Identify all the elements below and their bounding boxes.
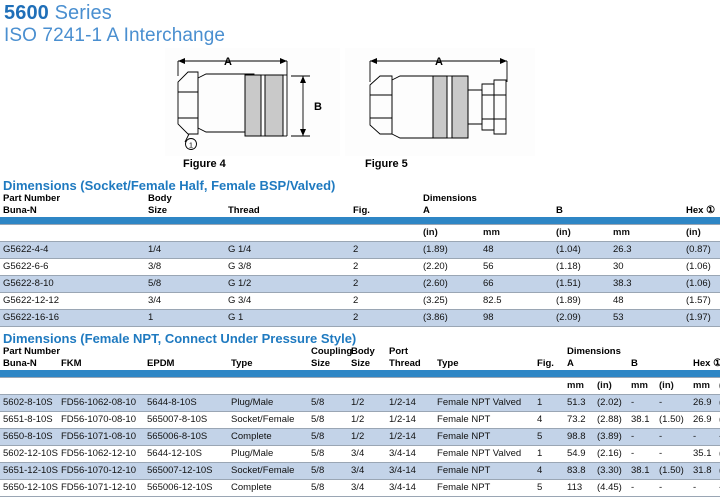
cell-a-mm: 48	[480, 242, 553, 259]
cell-body-size: 3/4	[145, 293, 225, 310]
cell2-b-mm: 38.1	[628, 463, 656, 480]
cell2-hex-mm: 26.9	[690, 412, 716, 429]
cell-fig: 2	[350, 310, 420, 327]
cell-a-mm: 98	[480, 310, 553, 327]
title-standard-line: ISO 7241-1 A Interchange	[4, 25, 720, 47]
table1: Part Number Body Dimensions Buna-N Size …	[0, 193, 720, 327]
cell2-type: Socket/Female	[228, 463, 308, 480]
cell2-port-thread: 1/2-14	[386, 395, 434, 412]
cell2-fig: 4	[534, 463, 564, 480]
table2-body: 5602-8-10S FD56-1062-08-10 5644-8-10S Pl…	[0, 395, 720, 497]
cell2-epdm: 565006-12-10S	[144, 480, 228, 497]
unit2-blank-9	[534, 378, 564, 395]
table-row[interactable]: G5622-8-10 5/8 G 1/2 2 (2.60) 66 (1.51) …	[0, 276, 720, 293]
table2-units-row: mm (in) mm (in) mm (in)	[0, 378, 720, 395]
th2-hex-label: Hex	[693, 358, 710, 369]
cell2-body-size: 1/2	[348, 412, 386, 429]
cell2-fig: 4	[534, 412, 564, 429]
cell2-a-in: (3.89)	[594, 429, 628, 446]
cell2-coupling-size: 5/8	[308, 412, 348, 429]
cell2-hex-mm: -	[690, 480, 716, 497]
cell2-buna: 5602-8-10S	[0, 395, 58, 412]
th-part-number: Part Number	[0, 193, 145, 205]
table2-header-row-1: Part Number Coupling Body Port Dimension…	[0, 346, 720, 358]
cell2-fkm: FD56-1071-08-10	[58, 429, 144, 446]
table1-section: Dimensions (Socket/Female Half, Female B…	[0, 178, 720, 327]
unit-a-mm: mm	[480, 225, 553, 242]
cell2-hex-mm: 31.8	[690, 463, 716, 480]
cell2-fkm: FD56-1062-08-10	[58, 395, 144, 412]
figure-5-drawing: A	[345, 48, 535, 156]
cell2-b-in: (1.50)	[656, 463, 690, 480]
cell2-b-mm: -	[628, 395, 656, 412]
th2-type2-spacer	[434, 346, 534, 358]
table2-heading: Dimensions (Female NPT, Connect Under Pr…	[0, 331, 720, 346]
th2-fig-spacer	[534, 346, 564, 358]
cell2-body-size: 3/4	[348, 480, 386, 497]
unit-hex-in: (in)	[683, 225, 720, 242]
cell-a-in: (2.60)	[420, 276, 480, 293]
cell-fig: 2	[350, 276, 420, 293]
table1-heading: Dimensions (Socket/Female Half, Female B…	[0, 178, 720, 193]
cell-hex-in: (0.87)	[683, 242, 720, 259]
cell2-buna: 5651-12-10S	[0, 463, 58, 480]
unit2-blank-4	[228, 378, 308, 395]
unit-blank-4	[350, 225, 420, 242]
th-thread: Thread	[225, 205, 350, 217]
unit-b-mm: mm	[610, 225, 683, 242]
cell2-hex-in: (1.25)	[716, 463, 720, 480]
cell2-type2: Female NPT	[434, 463, 534, 480]
cell2-type: Socket/Female	[228, 412, 308, 429]
note-1-icon: ①	[706, 205, 715, 216]
th-body: Body	[145, 193, 225, 205]
th2-coupling: Coupling	[308, 346, 348, 358]
cell2-port-thread: 3/4-14	[386, 480, 434, 497]
figure-5-svg: A	[345, 48, 535, 156]
th2-dim-b: B	[628, 358, 690, 370]
unit2-blank-6	[348, 378, 386, 395]
cell-b-mm: 38.3	[610, 276, 683, 293]
cell2-type2: Female NPT	[434, 480, 534, 497]
cell-a-mm: 56	[480, 259, 553, 276]
table2-header-row-2: Buna-N FKM EPDM Type Size Size Thread Ty…	[0, 358, 720, 370]
cell-b-mm: 26.3	[610, 242, 683, 259]
figure-5-caption: Figure 5	[365, 158, 408, 170]
cell-thread: G 1/4	[225, 242, 350, 259]
th2-type2: Type	[434, 358, 534, 370]
cell-hex-in: (1.97)	[683, 310, 720, 327]
cell2-b-in: -	[656, 395, 690, 412]
cell2-buna: 5651-8-10S	[0, 412, 58, 429]
title-series-line: 5600 Series	[4, 2, 720, 25]
table1-header-row-1: Part Number Body Dimensions	[0, 193, 720, 205]
cell2-fig: 5	[534, 480, 564, 497]
figure-4-svg: A B 1	[165, 48, 340, 156]
cell-fig: 2	[350, 242, 420, 259]
th-buna: Buna-N	[0, 205, 145, 217]
cell2-coupling-size: 5/8	[308, 395, 348, 412]
table1-body: G5622-4-4 1/4 G 1/4 2 (1.89) 48 (1.04) 2…	[0, 242, 720, 327]
cell2-a-in: (2.16)	[594, 446, 628, 463]
title-series-word: Series	[49, 2, 112, 24]
cell2-a-in: (2.02)	[594, 395, 628, 412]
unit2-b-mm: mm	[628, 378, 656, 395]
cell2-type2: Female NPT Valved	[434, 395, 534, 412]
title-series-number: 5600	[4, 2, 49, 24]
cell-hex-in: (1.57)	[683, 293, 720, 310]
unit-blank-3	[225, 225, 350, 242]
table-row[interactable]: 5650-8-10S FD56-1071-08-10 565006-8-10S …	[0, 429, 720, 446]
cell2-epdm: 5644-8-10S	[144, 395, 228, 412]
table-row[interactable]: G5622-16-16 1 G 1 2 (3.86) 98 (2.09) 53 …	[0, 310, 720, 327]
th2-fig: Fig.	[534, 358, 564, 370]
unit2-a-mm: mm	[564, 378, 594, 395]
th-dim-hex: Hex ①	[683, 205, 720, 217]
cell-part: G5622-8-10	[0, 276, 145, 293]
unit-blank-2	[145, 225, 225, 242]
th2-type: Type	[228, 358, 308, 370]
cell-thread: G 3/8	[225, 259, 350, 276]
cell-b-in: (1.51)	[553, 276, 610, 293]
cell2-coupling-size: 5/8	[308, 446, 348, 463]
cell-b-mm: 48	[610, 293, 683, 310]
cell-a-in: (3.25)	[420, 293, 480, 310]
th-size: Size	[145, 205, 225, 217]
cell2-b-mm: -	[628, 429, 656, 446]
cell2-hex-in: -	[716, 429, 720, 446]
cell2-type: Complete	[228, 429, 308, 446]
cell-a-mm: 82.5	[480, 293, 553, 310]
cell-body-size: 5/8	[145, 276, 225, 293]
th2-epdm-spacer	[144, 346, 228, 358]
cell2-type2: Female NPT	[434, 429, 534, 446]
cell2-a-mm: 73.2	[564, 412, 594, 429]
cell2-fig: 1	[534, 395, 564, 412]
table-row[interactable]: 5651-12-10S FD56-1070-12-10 565007-12-10…	[0, 463, 720, 480]
cell2-epdm: 565007-8-10S	[144, 412, 228, 429]
cell-part: G5622-4-4	[0, 242, 145, 259]
cell2-b-in: -	[656, 429, 690, 446]
cell2-buna: 5602-12-10S	[0, 446, 58, 463]
table1-units-row: (in) mm (in) mm (in) mm	[0, 225, 720, 242]
cell-body-size: 3/8	[145, 259, 225, 276]
th-thread-spacer	[225, 193, 350, 205]
figure-4-dim-b-label: B	[314, 101, 322, 113]
th2-dimensions: Dimensions	[564, 346, 720, 358]
unit2-hex-in: (in)	[716, 378, 720, 395]
unit2-blank-8	[434, 378, 534, 395]
cell-b-in: (1.89)	[553, 293, 610, 310]
cell2-fkm: FD56-1071-12-10	[58, 480, 144, 497]
cell2-fig: 5	[534, 429, 564, 446]
th2-port-thread: Thread	[386, 358, 434, 370]
cell2-fkm: FD56-1070-08-10	[58, 412, 144, 429]
cell2-coupling-size: 5/8	[308, 463, 348, 480]
unit2-hex-mm: mm	[690, 378, 716, 395]
th-dimensions: Dimensions	[420, 193, 720, 205]
th2-dim-hex: Hex ①	[690, 358, 720, 370]
cell2-buna: 5650-8-10S	[0, 429, 58, 446]
figure-4-note-marker: 1	[189, 141, 193, 150]
cell2-buna: 5650-12-10S	[0, 480, 58, 497]
table2-section: Dimensions (Female NPT, Connect Under Pr…	[0, 331, 720, 497]
cell-part: G5622-6-6	[0, 259, 145, 276]
cell2-fkm: FD56-1062-12-10	[58, 446, 144, 463]
unit-a-in: (in)	[420, 225, 480, 242]
table1-header-row-2: Buna-N Size Thread Fig. A B Hex ①	[0, 205, 720, 217]
cell2-type2: Female NPT Valved	[434, 446, 534, 463]
cell2-coupling-size: 5/8	[308, 480, 348, 497]
cell2-a-in: (3.30)	[594, 463, 628, 480]
cell-body-size: 1	[145, 310, 225, 327]
table2: Part Number Coupling Body Port Dimension…	[0, 346, 720, 497]
cell2-b-in: (1.50)	[656, 412, 690, 429]
cell-hex-in: (1.06)	[683, 276, 720, 293]
cell2-a-in: (4.45)	[594, 480, 628, 497]
figure-4-dim-a-label: A	[224, 56, 232, 68]
cell2-b-in: -	[656, 446, 690, 463]
cell2-body-size: 3/4	[348, 446, 386, 463]
cell2-b-mm: 38.1	[628, 412, 656, 429]
table-row[interactable]: 5602-8-10S FD56-1062-08-10 5644-8-10S Pl…	[0, 395, 720, 412]
th2-type-spacer	[228, 346, 308, 358]
cell2-a-mm: 98.8	[564, 429, 594, 446]
unit-blank-1	[0, 225, 145, 242]
cell2-epdm: 565007-12-10S	[144, 463, 228, 480]
th2-fkm: FKM	[58, 358, 144, 370]
cell2-port-thread: 1/2-14	[386, 429, 434, 446]
cell2-type: Plug/Male	[228, 446, 308, 463]
cell2-body-size: 1/2	[348, 395, 386, 412]
cell-hex-in: (1.06)	[683, 259, 720, 276]
table2-blue-rule	[0, 370, 720, 378]
cell-part: G5622-16-16	[0, 310, 145, 327]
table-row[interactable]: 5602-12-10S FD56-1062-12-10 5644-12-10S …	[0, 446, 720, 463]
figure-4-drawing: A B 1	[165, 48, 340, 156]
cell2-port-thread: 3/4-14	[386, 446, 434, 463]
unit2-b-in: (in)	[656, 378, 690, 395]
th2-body-size: Size	[348, 358, 386, 370]
table1-blue-rule	[0, 217, 720, 225]
table-row[interactable]: 5651-8-10S FD56-1070-08-10 565007-8-10S …	[0, 412, 720, 429]
unit2-blank-1	[0, 378, 58, 395]
cell-thread: G 1/2	[225, 276, 350, 293]
cell2-hex-mm: -	[690, 429, 716, 446]
th-hex-label: Hex	[686, 205, 703, 216]
unit2-blank-5	[308, 378, 348, 395]
cell2-b-in: -	[656, 480, 690, 497]
cell2-hex-mm: 35.1	[690, 446, 716, 463]
note-1-icon: ①	[713, 358, 720, 369]
cell-b-mm: 53	[610, 310, 683, 327]
unit2-blank-2	[58, 378, 144, 395]
th-fig-spacer	[350, 193, 420, 205]
figure-4-caption: Figure 4	[183, 158, 226, 170]
cell2-hex-in: -	[716, 480, 720, 497]
cell2-epdm: 5644-12-10S	[144, 446, 228, 463]
cell2-a-mm: 54.9	[564, 446, 594, 463]
table-row[interactable]: G5622-6-6 3/8 G 3/8 2 (2.20) 56 (1.18) 3…	[0, 259, 720, 276]
cell2-a-mm: 113	[564, 480, 594, 497]
cell2-port-thread: 3/4-14	[386, 463, 434, 480]
cell-fig: 2	[350, 293, 420, 310]
cell-a-mm: 66	[480, 276, 553, 293]
cell2-b-mm: -	[628, 446, 656, 463]
cell2-hex-in: (1.06)	[716, 412, 720, 429]
cell2-a-in: (2.88)	[594, 412, 628, 429]
cell2-b-mm: -	[628, 480, 656, 497]
th-dim-a: A	[420, 205, 553, 217]
cell-body-size: 1/4	[145, 242, 225, 259]
cell-a-in: (1.89)	[420, 242, 480, 259]
cell2-hex-in: (1.06)	[716, 395, 720, 412]
cell-a-in: (3.86)	[420, 310, 480, 327]
cell2-a-mm: 83.8	[564, 463, 594, 480]
cell-a-in: (2.20)	[420, 259, 480, 276]
cell-thread: G 1	[225, 310, 350, 327]
table-row[interactable]: G5622-4-4 1/4 G 1/4 2 (1.89) 48 (1.04) 2…	[0, 242, 720, 259]
th-dim-b: B	[553, 205, 683, 217]
th2-coupling-size: Size	[308, 358, 348, 370]
th2-part-number: Part Number	[0, 346, 144, 358]
figure-panel: A B 1 Figure 4	[165, 48, 565, 173]
th2-port: Port	[386, 346, 434, 358]
cell-part: G5622-12-12	[0, 293, 145, 310]
cell2-hex-in: (1.38)	[716, 446, 720, 463]
th2-dim-a: A	[564, 358, 628, 370]
cell2-body-size: 3/4	[348, 463, 386, 480]
cell2-fig: 1	[534, 446, 564, 463]
cell2-hex-mm: 26.9	[690, 395, 716, 412]
cell2-fkm: FD56-1070-12-10	[58, 463, 144, 480]
cell-b-in: (2.09)	[553, 310, 610, 327]
cell-b-mm: 30	[610, 259, 683, 276]
unit2-blank-3	[144, 378, 228, 395]
unit2-a-in: (in)	[594, 378, 628, 395]
cell-b-in: (1.04)	[553, 242, 610, 259]
cell2-epdm: 565006-8-10S	[144, 429, 228, 446]
table-row[interactable]: 5650-12-10S FD56-1071-12-10 565006-12-10…	[0, 480, 720, 497]
th-fig: Fig.	[350, 205, 420, 217]
figure-5-dim-a-label: A	[435, 56, 443, 68]
cell2-type: Complete	[228, 480, 308, 497]
cell-fig: 2	[350, 259, 420, 276]
cell2-coupling-size: 5/8	[308, 429, 348, 446]
th2-buna: Buna-N	[0, 358, 58, 370]
cell2-port-thread: 1/2-14	[386, 412, 434, 429]
th2-body: Body	[348, 346, 386, 358]
th2-epdm: EPDM	[144, 358, 228, 370]
cell2-type: Plug/Male	[228, 395, 308, 412]
cell2-a-mm: 51.3	[564, 395, 594, 412]
cell-thread: G 3/4	[225, 293, 350, 310]
unit-b-in: (in)	[553, 225, 610, 242]
cell2-body-size: 1/2	[348, 429, 386, 446]
cell-b-in: (1.18)	[553, 259, 610, 276]
page-title: 5600 Series ISO 7241-1 A Interchange	[0, 0, 720, 47]
table-row[interactable]: G5622-12-12 3/4 G 3/4 2 (3.25) 82.5 (1.8…	[0, 293, 720, 310]
cell2-type2: Female NPT	[434, 412, 534, 429]
unit2-blank-7	[386, 378, 434, 395]
